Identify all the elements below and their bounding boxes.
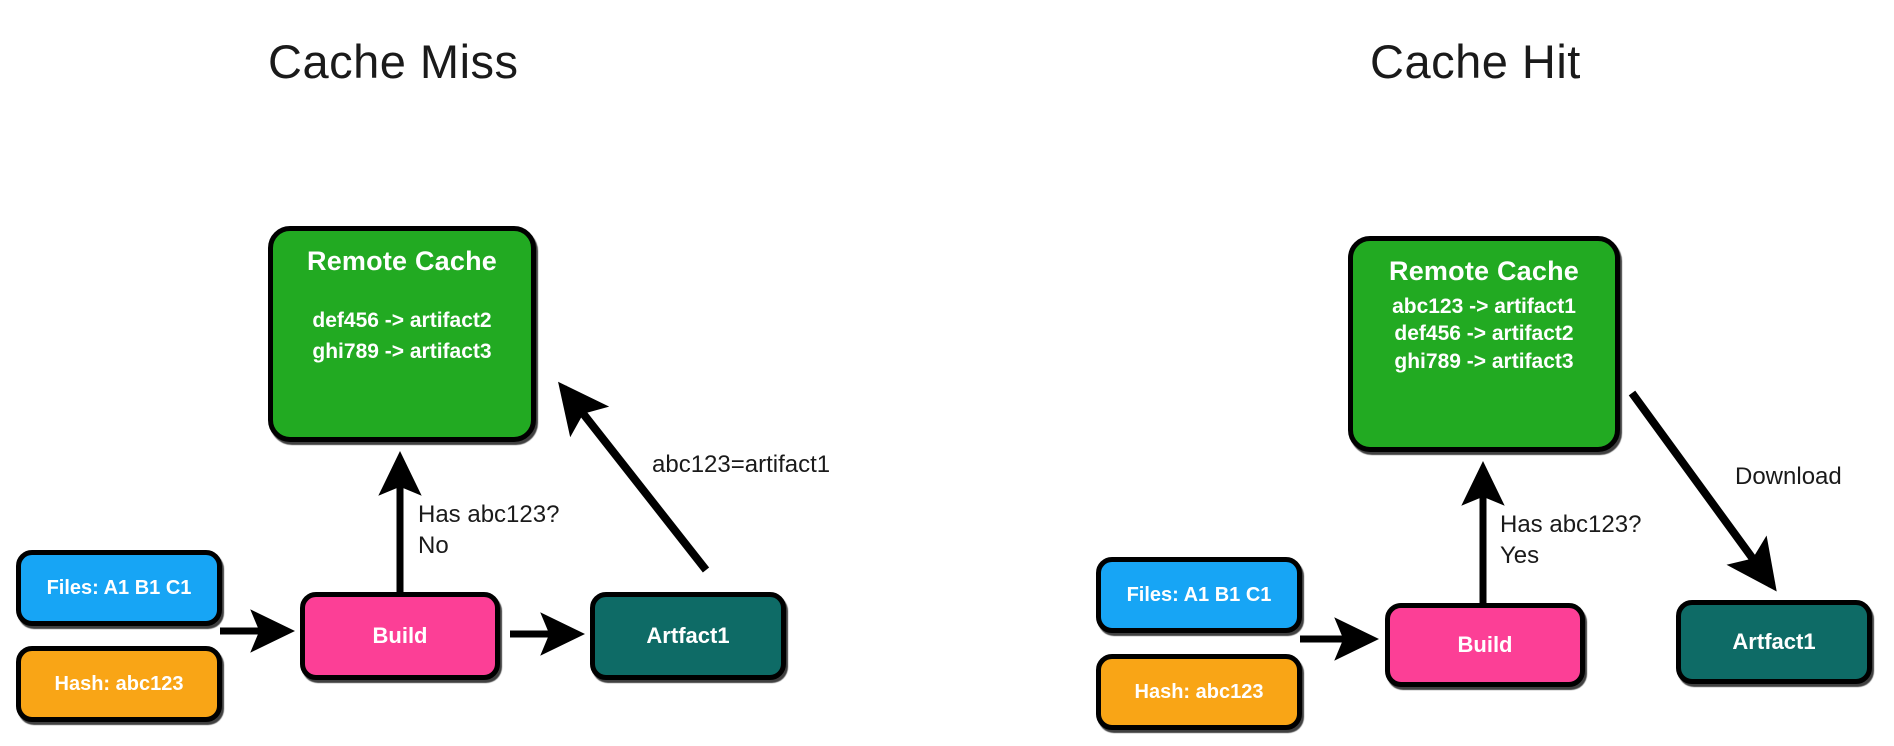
node-artifact-left[interactable]: Artfact1 [590, 592, 786, 680]
node-build-right[interactable]: Build [1385, 603, 1585, 687]
node-artifact-label-right: Artfact1 [1732, 629, 1815, 655]
node-files-label-left: Files: A1 B1 C1 [47, 577, 192, 600]
remote-cache-title-left: Remote Cache [307, 247, 497, 277]
node-remote-cache-miss[interactable]: Remote Cache def456 -> artifact2 ghi789 … [268, 226, 536, 442]
edge-label-upload-left: abc123=artifact1 [652, 450, 830, 481]
cache-entry: def456 -> artifact2 [1394, 320, 1573, 348]
cache-entry: abc123 -> artifact1 [1392, 293, 1576, 321]
node-hash-label-left: Hash: abc123 [55, 673, 184, 696]
cache-entry: ghi789 -> artifact3 [312, 336, 491, 368]
panel-title-cache-miss: Cache Miss [268, 38, 519, 85]
node-build-left[interactable]: Build [300, 592, 500, 680]
remote-cache-entries-left: def456 -> artifact2 ghi789 -> artifact3 [312, 305, 491, 368]
node-files-right[interactable]: Files: A1 B1 C1 [1096, 557, 1302, 633]
remote-cache-title-right: Remote Cache [1389, 257, 1579, 287]
diagram-canvas: Cache Miss Remote Cache def456 -> artifa… [0, 0, 1894, 746]
node-build-label-left: Build [373, 623, 428, 649]
node-files-left[interactable]: Files: A1 B1 C1 [16, 550, 222, 626]
node-build-label-right: Build [1458, 632, 1513, 658]
remote-cache-entries-right: abc123 -> artifact1 def456 -> artifact2 … [1392, 293, 1576, 376]
edge-label-download-right: Download [1735, 462, 1842, 493]
node-hash-label-right: Hash: abc123 [1135, 681, 1264, 704]
edge-label-query-left: Has abc123? No [418, 500, 559, 561]
node-hash-right[interactable]: Hash: abc123 [1096, 654, 1302, 730]
panel-title-cache-hit: Cache Hit [1370, 38, 1581, 85]
node-artifact-right[interactable]: Artfact1 [1676, 600, 1872, 684]
node-artifact-label-left: Artfact1 [646, 623, 729, 649]
cache-entry: ghi789 -> artifact3 [1394, 348, 1573, 376]
node-hash-left[interactable]: Hash: abc123 [16, 646, 222, 722]
node-files-label-right: Files: A1 B1 C1 [1127, 584, 1272, 607]
node-remote-cache-hit[interactable]: Remote Cache abc123 -> artifact1 def456 … [1348, 236, 1620, 452]
edge-label-query-right: Has abc123? Yes [1500, 510, 1641, 571]
cache-entry: def456 -> artifact2 [312, 305, 491, 337]
